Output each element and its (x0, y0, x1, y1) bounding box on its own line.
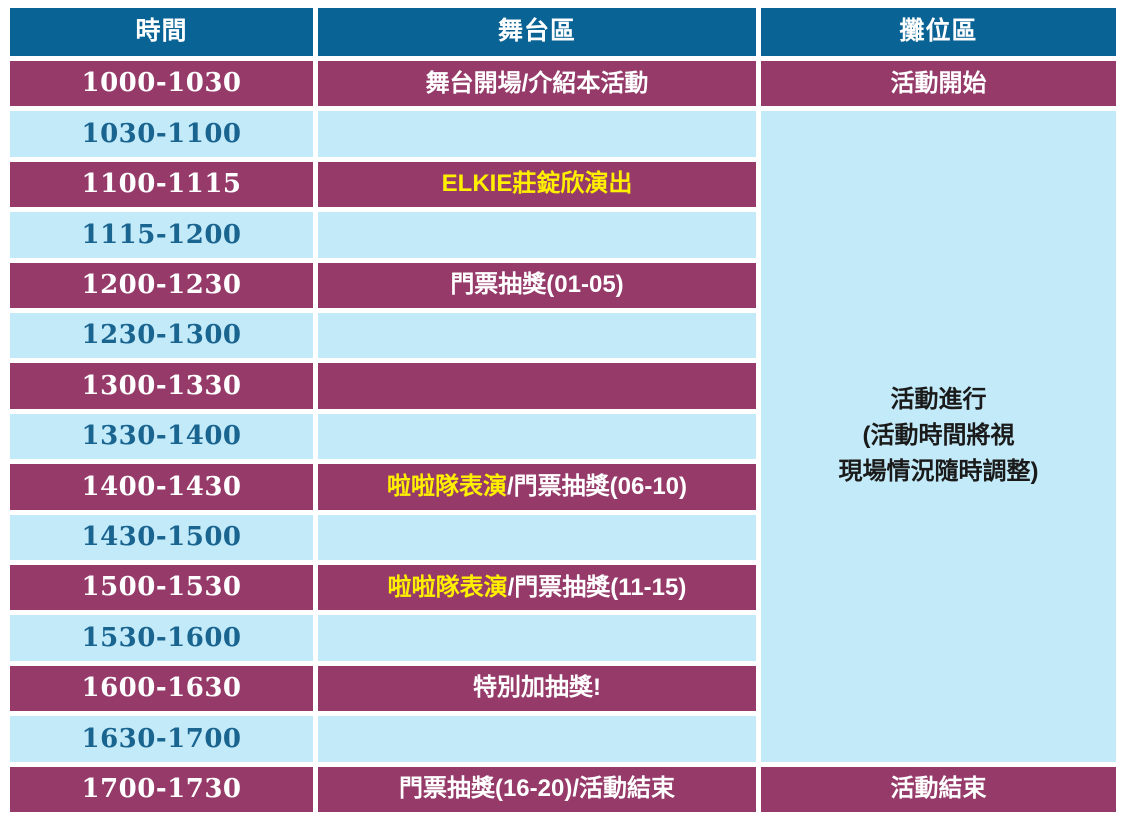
stage-cell: 門票抽獎(16-20)/活動結束 (318, 767, 756, 812)
stage-text-suffix: /門票抽獎(06-10) (507, 473, 687, 501)
time-cell: 1700-1730 (10, 767, 313, 812)
column-header-2: 舞台區 (318, 8, 756, 56)
stage-cell: 舞台開場/介紹本活動 (318, 61, 756, 106)
time-cell: 1600-1630 (10, 666, 313, 711)
column-header-3: 攤位區 (761, 8, 1116, 56)
stage-cell: ELKIE莊錠欣演出 (318, 162, 756, 207)
stage-cell: 啦啦隊表演/門票抽獎(06-10) (318, 464, 756, 509)
stage-cell (318, 414, 756, 459)
stage-cell (318, 313, 756, 358)
schedule-table: 時間舞台區攤位區1000-1030舞台開場/介紹本活動活動開始1030-1100… (10, 8, 1116, 812)
time-cell: 1400-1430 (10, 464, 313, 509)
stage-highlight-text: ELKIE莊錠欣演出 (442, 170, 633, 198)
booth-cell: 活動結束 (761, 767, 1116, 812)
time-cell: 1230-1300 (10, 313, 313, 358)
stage-cell: 門票抽獎(01-05) (318, 263, 756, 308)
stage-highlight-text: 啦啦隊表演 (387, 473, 507, 501)
stage-text: 舞台開場/介紹本活動 (426, 70, 649, 98)
time-cell: 1630-1700 (10, 716, 313, 761)
time-cell: 1430-1500 (10, 515, 313, 560)
stage-cell: 特別加抽獎! (318, 666, 756, 711)
stage-cell (318, 716, 756, 761)
column-header-1: 時間 (10, 8, 313, 56)
time-cell: 1530-1600 (10, 615, 313, 660)
stage-text-suffix: /門票抽獎(11-15) (508, 574, 687, 602)
stage-cell (318, 515, 756, 560)
stage-cell (318, 212, 756, 257)
time-cell: 1030-1100 (10, 111, 313, 156)
stage-cell (318, 363, 756, 408)
stage-text: 特別加抽獎! (473, 674, 601, 702)
stage-cell: 啦啦隊表演/門票抽獎(11-15) (318, 565, 756, 610)
stage-cell (318, 615, 756, 660)
time-cell: 1100-1115 (10, 162, 313, 207)
time-cell: 1300-1330 (10, 363, 313, 408)
stage-highlight-text: 啦啦隊表演 (388, 574, 508, 602)
time-cell: 1000-1030 (10, 61, 313, 106)
stage-cell (318, 111, 756, 156)
time-cell: 1200-1230 (10, 263, 313, 308)
booth-cell: 活動開始 (761, 61, 1116, 106)
booth-merged-cell: 活動進行 (活動時間將視 現場情況隨時調整) (761, 111, 1116, 761)
stage-text: 門票抽獎(16-20)/活動結束 (399, 775, 675, 803)
time-cell: 1115-1200 (10, 212, 313, 257)
stage-text: 門票抽獎(01-05) (450, 271, 623, 299)
time-cell: 1330-1400 (10, 414, 313, 459)
time-cell: 1500-1530 (10, 565, 313, 610)
